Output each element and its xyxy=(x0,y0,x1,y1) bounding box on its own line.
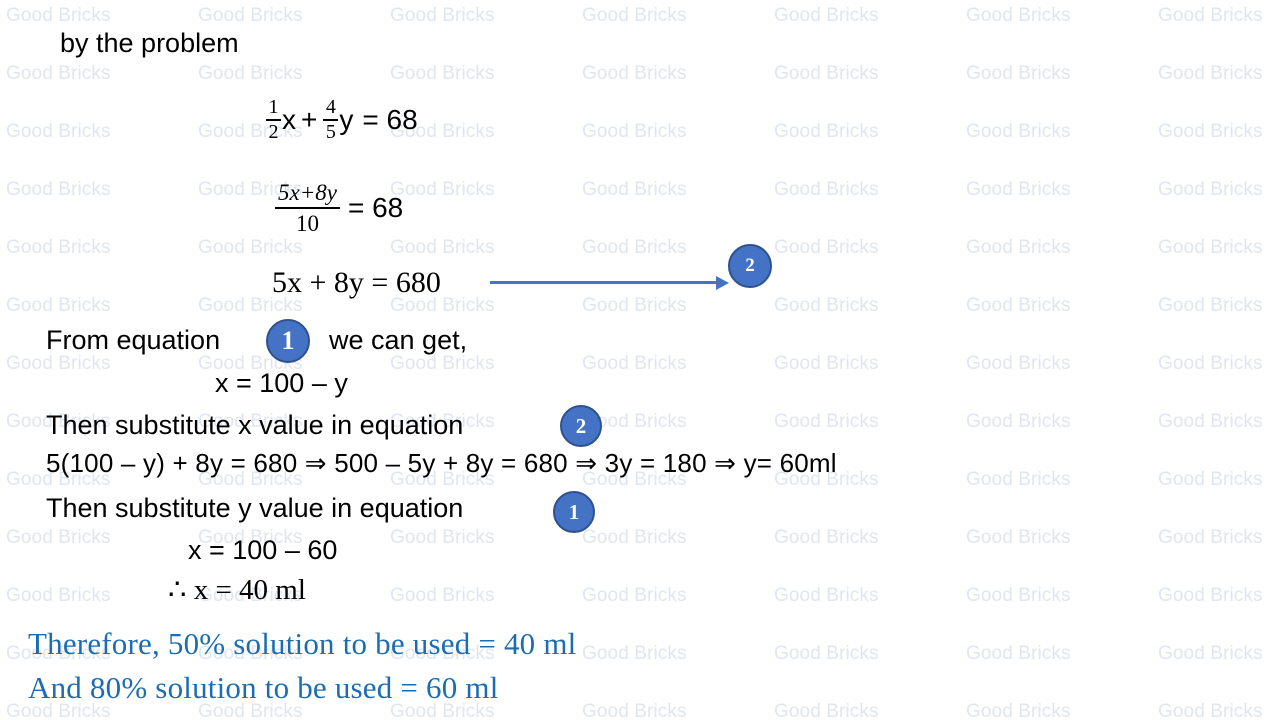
equation-badge-1-from: 1 xyxy=(266,319,310,363)
fraction-numerator: 1 xyxy=(267,97,281,118)
fraction-one-half: 1 2 xyxy=(266,97,281,143)
equals-sixty-eight: = 68 xyxy=(348,192,403,224)
fraction-four-fifths: 4 5 xyxy=(323,97,338,143)
from-equation-suffix: we can get, xyxy=(329,327,467,354)
x-expression: x = 100 – y xyxy=(215,370,348,397)
plus-operator: + xyxy=(301,104,317,136)
fraction-numerator: 4 xyxy=(324,97,338,118)
answer-line-2: And 80% solution to be used = 60 ml xyxy=(28,672,499,703)
equation-5x-plus-8y-equals-680: 5x + 8y = 680 xyxy=(272,266,441,300)
x-substituted: x = 100 – 60 xyxy=(188,537,337,564)
equation-one-half-x-plus-four-fifths-y: 1 2 x + 4 5 y = 68 xyxy=(265,97,423,143)
variable-x: x xyxy=(282,104,296,136)
intro-text: by the problem xyxy=(60,30,239,57)
fraction-numerator: 5x+8y xyxy=(275,180,340,205)
substitute-y-text: Then substitute y value in equation xyxy=(46,495,463,522)
variable-y: y xyxy=(339,104,353,136)
arrow-head xyxy=(716,276,729,290)
fraction-denominator: 10 xyxy=(293,211,322,236)
arrow-shaft xyxy=(490,281,718,284)
equals-sixty-eight: = 68 xyxy=(362,104,417,136)
equation-badge-1-substitute-y: 1 xyxy=(553,491,595,533)
equation-text: 5x + 8y = 680 xyxy=(272,266,441,299)
arrow-to-equation-2 xyxy=(490,281,730,284)
fraction-bar xyxy=(275,207,340,209)
fraction-denominator: 2 xyxy=(267,122,281,143)
equation-badge-2-arrow: 2 xyxy=(728,244,772,288)
solve-for-y-line: 5(100 – y) + 8y = 680 ⇒ 500 – 5y + 8y = … xyxy=(46,450,837,476)
fraction-5x-8y-over-10: 5x+8y 10 xyxy=(275,180,340,237)
equation-combined-fraction: 5x+8y 10 = 68 xyxy=(275,180,403,237)
substitute-x-text: Then substitute x value in equation xyxy=(46,412,463,439)
slide-canvas: Good BricksGood BricksGood BricksGood Br… xyxy=(0,0,1280,720)
content-layer: by the problem 1 2 x + 4 5 y = 68 5x+8y xyxy=(0,0,1280,720)
from-equation-prefix: From equation xyxy=(46,327,220,354)
answer-line-1: Therefore, 50% solution to be used = 40 … xyxy=(28,628,576,659)
fraction-denominator: 5 xyxy=(324,122,338,143)
equation-badge-2-substitute-x: 2 xyxy=(560,405,602,447)
x-result: ∴ x = 40 ml xyxy=(168,576,306,605)
